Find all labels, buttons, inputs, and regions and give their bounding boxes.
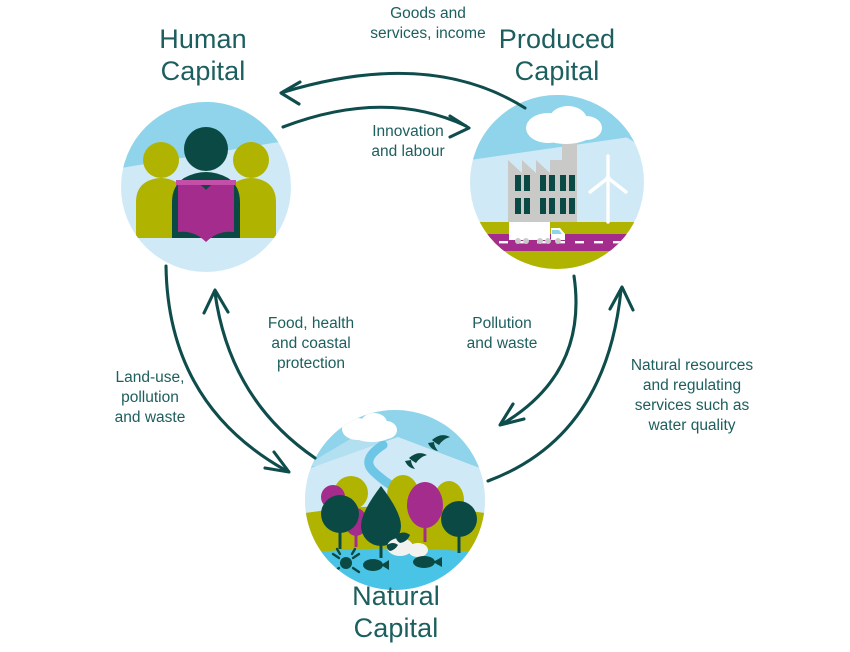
- node-title-natural-capital: Natural Capital: [305, 581, 487, 645]
- flow-label-natural-resources: Natural resources and regulating service…: [608, 356, 776, 437]
- flow-label-goods-services-income: Goods and services, income: [330, 4, 526, 44]
- flow-label-food-health-coastal-protection: Food, health and coastal protection: [232, 314, 390, 374]
- flow-label-innovation-and-labour: Innovation and labour: [320, 122, 496, 162]
- node-title-human-capital: Human Capital: [113, 24, 293, 88]
- flow-label-land-use-pollution-waste: Land-use, pollution and waste: [82, 368, 218, 428]
- flow-label-pollution-and-waste: Pollution and waste: [428, 314, 576, 354]
- flow-arrows-layer: [0, 0, 850, 652]
- capital-cycle-diagram: Human Capital Produced Capital Natural C…: [0, 0, 850, 652]
